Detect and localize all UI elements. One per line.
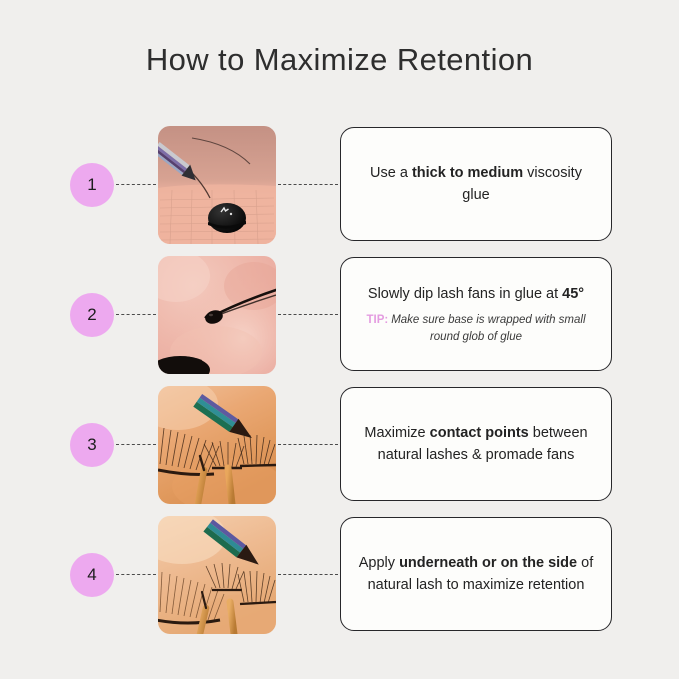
step-number-label: 1 — [87, 175, 96, 195]
text-prefix: Use a — [370, 165, 412, 181]
step-image-2 — [158, 256, 276, 374]
step-number-badge-1: 1 — [70, 163, 114, 207]
connector-dash-left — [116, 574, 156, 575]
step-number-badge-4: 4 — [70, 553, 114, 597]
step-row: 3 — [0, 386, 679, 504]
step-number-label: 2 — [87, 305, 96, 325]
connector-dash-left — [116, 444, 156, 445]
step-text-card-3: Maximize contact points between natural … — [340, 387, 612, 501]
step-row: 2 — [0, 256, 679, 374]
steps-list: 1 — [0, 126, 679, 634]
step-text-card-2: Slowly dip lash fans in glue at 45° TIP:… — [340, 257, 612, 371]
connector-dash-right — [278, 444, 338, 445]
step-row: 4 — [0, 516, 679, 634]
step-image-3 — [158, 386, 276, 504]
step-text-3: Maximize contact points between natural … — [357, 422, 595, 467]
text-emphasis: 45° — [562, 286, 584, 302]
connector-dash-left — [116, 314, 156, 315]
step-image-4 — [158, 516, 276, 634]
text-prefix: Maximize — [364, 425, 429, 441]
tip-text: Make sure base is wrapped with small rou… — [391, 314, 585, 343]
text-emphasis: underneath or on the side — [399, 555, 577, 571]
connector-dash-right — [278, 314, 338, 315]
step-image-1 — [158, 126, 276, 244]
step-number-badge-2: 2 — [70, 293, 114, 337]
infographic-page: How to Maximize Retention 1 — [0, 0, 679, 679]
step-row: 1 — [0, 126, 679, 244]
connector-dash-right — [278, 184, 338, 185]
step-text-2: Slowly dip lash fans in glue at 45° — [368, 283, 584, 305]
step-text-4: Apply underneath or on the side of natur… — [357, 552, 595, 597]
step-tip-2: TIP:Make sure base is wrapped with small… — [366, 312, 586, 345]
step-text-card-4: Apply underneath or on the side of natur… — [340, 517, 612, 631]
text-prefix: Slowly dip lash fans in glue at — [368, 286, 562, 302]
step-text-1: Use a thick to medium viscosity glue — [357, 162, 595, 207]
tip-label: TIP: — [366, 314, 388, 326]
connector-dash-right — [278, 574, 338, 575]
step-text-card-1: Use a thick to medium viscosity glue — [340, 127, 612, 241]
step-number-label: 4 — [87, 565, 96, 585]
connector-dash-left — [116, 184, 156, 185]
page-title: How to Maximize Retention — [0, 42, 679, 78]
text-prefix: Apply — [359, 555, 399, 571]
step-number-label: 3 — [87, 435, 96, 455]
text-emphasis: thick to medium — [412, 165, 523, 181]
text-emphasis: contact points — [430, 425, 529, 441]
step-number-badge-3: 3 — [70, 423, 114, 467]
